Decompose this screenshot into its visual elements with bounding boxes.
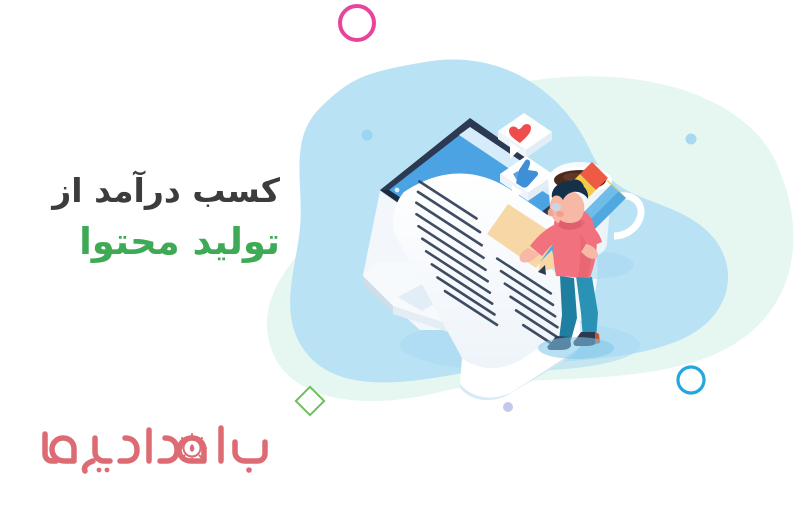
person-glasses — [551, 203, 561, 211]
logo-wordmark — [45, 428, 265, 471]
headline-line-1: کسب درآمد از — [10, 172, 280, 210]
brand-logo[interactable] — [25, 412, 275, 482]
logo-svg — [25, 412, 275, 482]
logo-ya-dot-2 — [105, 468, 110, 473]
banner-root: کسب درآمد از تولید محتوا — [0, 0, 800, 520]
decor-ring-pink — [340, 6, 374, 40]
decor-dot-blue-right — [686, 134, 697, 145]
logo-ya-dot-1 — [97, 468, 102, 473]
sun-eye-icon — [178, 434, 206, 462]
person-ground-shadow — [538, 337, 614, 359]
logo-ba-dot — [246, 467, 252, 473]
decor-dot-periwinkle — [503, 402, 513, 412]
headline-line-2: تولید محتوا — [10, 220, 280, 264]
decor-dot-blue-left — [362, 130, 373, 141]
decor-ring-cyan — [678, 367, 704, 393]
person-cheek — [556, 211, 564, 217]
headline: کسب درآمد از تولید محتوا — [10, 172, 280, 264]
